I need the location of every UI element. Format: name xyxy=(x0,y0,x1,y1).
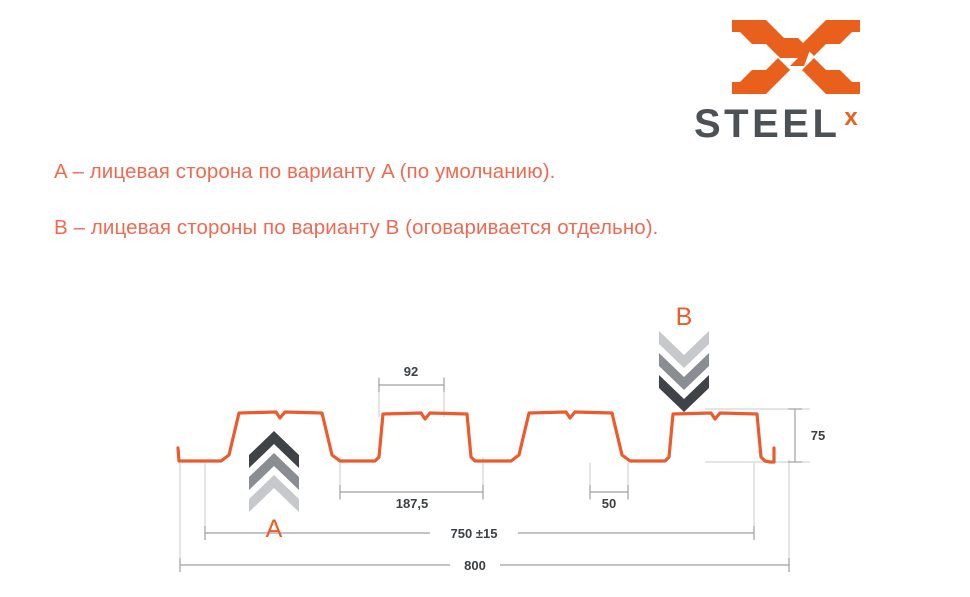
dimension-800-label: 800 xyxy=(464,558,486,573)
marker-a-chevrons xyxy=(249,431,299,512)
marker-b-chevrons xyxy=(659,331,709,412)
dimension-75-label: 75 xyxy=(811,428,825,443)
trapezoidal-profile-outline xyxy=(178,412,774,462)
dimension-750-label: 750 ±15 xyxy=(451,526,498,541)
page-root: STEEL x A – лицевая сторона по варианту … xyxy=(0,0,970,597)
note-variant-a: A – лицевая сторона по варианту A (по ум… xyxy=(54,160,555,184)
dimension-187-5-label: 187,5 xyxy=(396,496,429,511)
steelx-logo: STEEL x xyxy=(694,18,904,143)
dimension-92-label: 92 xyxy=(404,364,418,379)
marker-a-label: A xyxy=(266,515,283,543)
note-variant-b: B – лицевая стороны по варианту B (огова… xyxy=(54,216,658,240)
dimension-92 xyxy=(379,378,444,392)
logo-steel-text: STEEL xyxy=(694,104,840,144)
profile-technical-drawing: 92 187,5 50 75 xyxy=(0,285,970,585)
marker-b-label: B xyxy=(676,303,693,331)
dimension-50-label: 50 xyxy=(602,496,616,511)
logo-x-superscript: x xyxy=(844,106,857,130)
dimension-75 xyxy=(788,409,802,462)
steelx-x-mark-icon xyxy=(732,18,860,96)
steelx-wordmark: STEEL x xyxy=(694,104,904,144)
